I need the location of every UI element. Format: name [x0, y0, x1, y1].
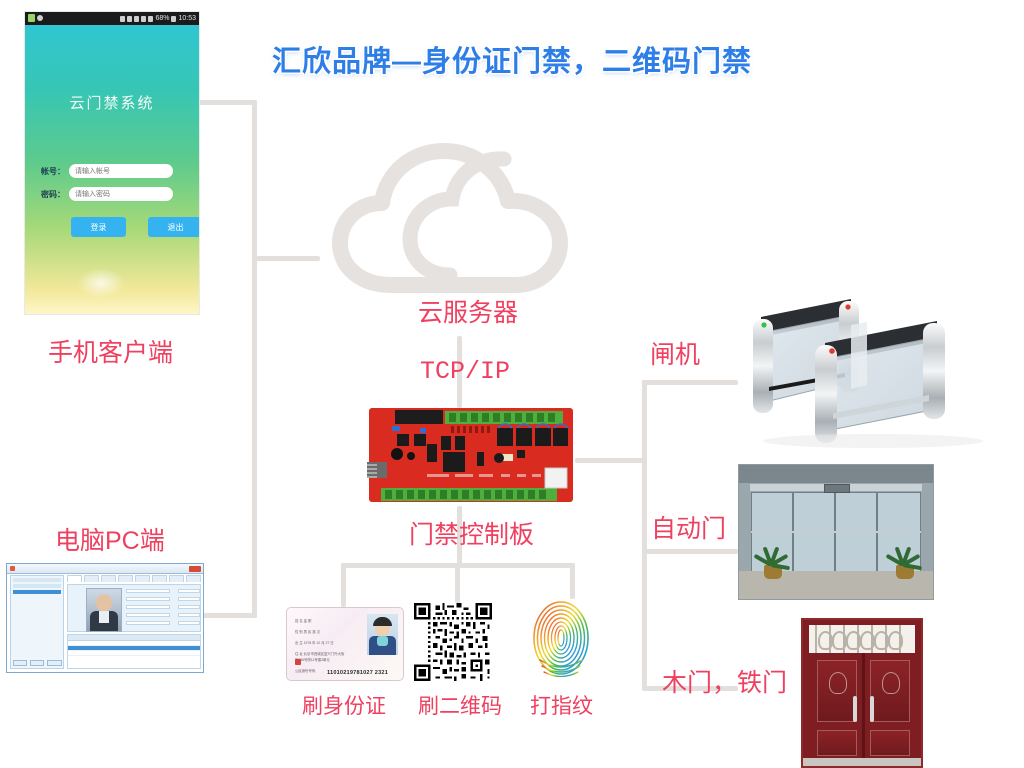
status-bar-right-icons: 68% 10:53 — [120, 12, 196, 25]
door-center-seam — [862, 653, 865, 758]
connector-left-bus — [252, 100, 257, 618]
id-card-number: 11010219781027 2321 — [327, 670, 388, 676]
door-panel-lower-right — [870, 730, 910, 756]
pc-list-header — [13, 584, 61, 588]
id-card-row-3: 出 生 1978 年 10 月 27 日 — [295, 640, 334, 645]
pc-person-photo — [86, 588, 122, 632]
phone-status-bar: 68% 10:53 — [25, 12, 199, 25]
pc-field-9 — [178, 613, 200, 617]
pc-field-1 — [126, 589, 170, 593]
pc-field-6 — [178, 589, 200, 593]
id-photo-collar — [377, 636, 388, 646]
pc-list-button-1 — [13, 660, 27, 666]
door-ornament-right — [882, 672, 900, 694]
door-transom-grille — [809, 625, 915, 653]
grille-scroll — [888, 631, 903, 650]
turnstile-image — [733, 281, 1015, 449]
password-label: 密码： — [41, 189, 65, 200]
connector-to-id-card — [341, 563, 346, 607]
connector-bus-to-cloud — [252, 256, 320, 261]
pc-window-close-icon — [189, 566, 201, 572]
pc-tab-2 — [84, 575, 99, 582]
cloud-server-icon — [330, 125, 580, 305]
pc-list-button-3 — [47, 660, 62, 666]
battery-percent: 68% — [155, 12, 169, 25]
pc-list-item-selected — [13, 590, 61, 594]
grille-scroll — [860, 631, 875, 650]
connector-phone-to-bus — [199, 100, 257, 105]
pc-field-5 — [126, 621, 170, 625]
id-card-photo — [367, 614, 398, 655]
pc-app-icon — [10, 566, 15, 571]
mobile-client-mockup: 68% 10:53 云门禁系统 帐号： 密码： 登录 退出 — [25, 12, 199, 314]
password-input[interactable] — [69, 187, 173, 201]
screen-glow — [77, 268, 125, 298]
door-threshold — [803, 758, 921, 766]
account-label: 帐号： — [41, 166, 65, 177]
sync-icon — [134, 16, 139, 22]
app-title: 云门禁系统 — [25, 92, 199, 113]
photo-head — [96, 594, 112, 611]
id-card-row-1: 姓 名 金 刚 — [295, 618, 311, 623]
pc-tab-1 — [67, 575, 82, 582]
building-wall — [739, 465, 934, 483]
door-handle-left — [853, 696, 857, 722]
alarm-icon — [127, 16, 132, 22]
door-push-bar — [751, 531, 921, 533]
connector-board-to-right-bus — [575, 458, 647, 463]
pc-field-7 — [178, 597, 200, 601]
grille-scroll — [874, 631, 889, 650]
pc-list-button-2 — [30, 660, 44, 666]
output-label-turnstile: 闸机 — [650, 335, 700, 371]
pc-tab-3 — [101, 575, 116, 582]
door-ornament-left — [829, 672, 847, 694]
app-badge-icon — [37, 15, 43, 21]
door-panel-lower-left — [817, 730, 857, 756]
potted-plant-left — [753, 537, 793, 579]
connector-to-turnstile — [642, 380, 738, 385]
door-handle-right — [870, 696, 874, 722]
pc-field-4 — [126, 613, 170, 617]
grille-bar — [815, 625, 817, 653]
control-board-label: 门禁控制板 — [409, 515, 534, 551]
battery-icon — [171, 16, 176, 22]
pc-client-caption: 电脑PC端 — [55, 521, 165, 557]
pc-tab-8 — [186, 575, 201, 582]
pc-field-10 — [178, 621, 200, 625]
automatic-door-image — [738, 464, 934, 600]
diagram-canvas: 汇欣品牌—身份证门禁，二维码门禁 68% — [0, 0, 1024, 768]
pc-user-list — [10, 575, 64, 669]
logout-button[interactable]: 退出 — [148, 217, 199, 237]
pc-field-3 — [126, 605, 170, 609]
connector-right-bus — [642, 380, 647, 690]
photo-shirt — [99, 611, 109, 623]
pc-tab-5 — [135, 575, 150, 582]
connector-to-fingerprint — [570, 563, 575, 599]
id-card-row-4: 住 址 北京市西城区复兴门外大街 — [295, 651, 344, 656]
credential-label-fingerprint: 打指纹 — [530, 690, 593, 720]
pc-tab-6 — [152, 575, 167, 582]
pc-grid-row — [68, 651, 200, 656]
credential-label-qr-code: 刷二维码 — [418, 690, 502, 720]
grille-scroll — [818, 631, 833, 650]
protocol-label: TCP/IP — [420, 357, 510, 386]
door-sensor-plate — [824, 484, 850, 493]
output-label-wood-iron-door: 木门，铁门 — [662, 663, 787, 699]
grille-scroll — [832, 631, 847, 650]
mobile-client-caption: 手机客户端 — [48, 333, 173, 369]
door-glass-panel-2 — [793, 492, 835, 576]
access-control-board-image — [367, 406, 575, 506]
pc-field-2 — [126, 597, 170, 601]
pc-window-titlebar — [7, 564, 203, 574]
id-card-image: 姓 名 金 刚 性 别 男 民 族 汉 出 生 1978 年 10 月 27 日… — [286, 607, 404, 681]
id-card-row-2: 性 别 男 民 族 汉 — [295, 629, 320, 634]
qr-code-image — [414, 603, 492, 681]
cloud-server-label: 云服务器 — [418, 293, 518, 329]
connector-to-automatic-door — [642, 549, 738, 554]
pc-record-grid — [67, 634, 201, 669]
output-label-automatic-door: 自动门 — [651, 509, 726, 545]
wifi-icon — [141, 16, 146, 22]
wood-iron-door-image — [801, 618, 923, 768]
connector-to-qr-code — [455, 563, 460, 603]
pc-tab-4 — [118, 575, 133, 582]
password-row: 密码： — [41, 187, 173, 201]
pc-tabstrip — [67, 575, 201, 582]
pc-field-8 — [178, 605, 200, 609]
pc-software-window — [6, 563, 204, 673]
fingerprint-icon — [530, 598, 592, 680]
account-input[interactable] — [69, 164, 173, 178]
account-row: 帐号： — [41, 164, 173, 178]
potted-plant-right — [885, 537, 925, 579]
credential-label-id-card: 刷身份证 — [302, 690, 386, 720]
id-photo-hair — [373, 617, 392, 626]
pc-tab-7 — [169, 575, 184, 582]
id-card-number-label: 公民身份号码 — [295, 668, 315, 673]
signal-icon — [148, 16, 153, 22]
notification-icon — [28, 14, 35, 22]
pc-person-form — [67, 584, 201, 632]
clock-time: 10:53 — [178, 12, 196, 25]
connector-pc-to-bus — [199, 613, 257, 618]
pc-detail-pane — [67, 575, 201, 669]
grille-scroll — [846, 631, 861, 650]
national-emblem-icon — [295, 659, 301, 665]
pc-list-search — [13, 578, 61, 582]
login-button[interactable]: 登录 — [71, 217, 126, 237]
bluetooth-icon — [120, 16, 125, 22]
door-glass-panel-3 — [835, 492, 877, 576]
status-bar-left-icons — [28, 14, 43, 22]
